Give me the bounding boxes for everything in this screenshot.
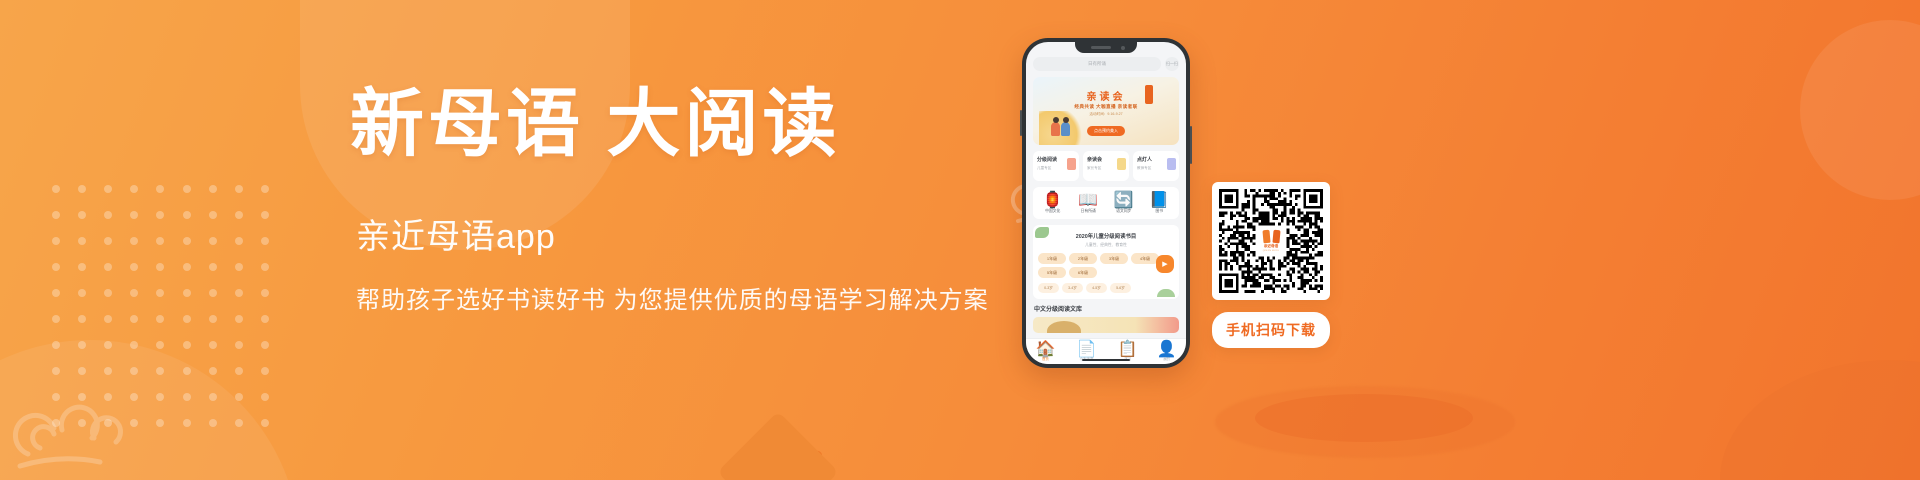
grade-chip[interactable]: 5年级 (1038, 267, 1066, 278)
copy-block: 新母语 大阅读 亲近母语app 帮助孩子选好书读好书 为您提供优质的母语学习解决… (350, 88, 1010, 316)
quick-icon-label: 语文同步 (1116, 209, 1131, 214)
age-chip[interactable]: 3-4岁 (1062, 283, 1083, 293)
hero-date: 活动时间：9.16-9.27 (1089, 112, 1122, 117)
grade-chip[interactable]: 4年级 (1131, 253, 1159, 264)
hero-title: 亲读会 (1087, 88, 1126, 103)
tab-label: 我的 (1163, 356, 1170, 361)
description-line: 帮助孩子选好书读好书 为您提供优质的母语学习解决方案 (356, 287, 1010, 316)
category-cards: 分级阅读儿童专区亲读会家长专区点灯人教师专区 (1033, 151, 1179, 181)
booklist-subtitle: 儿童性、经典性、教育性 (1038, 243, 1174, 248)
decor-diamond (717, 411, 839, 480)
category-card[interactable]: 分级阅读儿童专区 (1033, 151, 1079, 181)
age-chip[interactable]: 0-3岁 (1038, 283, 1059, 293)
age-chip-row: 0-3岁3-4岁4-5岁5-6岁 (1038, 283, 1174, 293)
quick-icon-glyph: 🏮 (1047, 194, 1058, 206)
quick-icon-row: 🏮中国文化📖日有所诵🔄语文同步📘图书 (1033, 187, 1179, 219)
tab-我的[interactable]: 👤我的 (1162, 345, 1171, 361)
decor-right-circle (1800, 20, 1920, 200)
subheadline: 亲近母语app (356, 220, 1010, 254)
tab-glyph: 📋 (1123, 345, 1132, 354)
tab-label: 首页 (1042, 356, 1049, 361)
quick-icon-glyph: 🔄 (1118, 194, 1129, 206)
grade-chip[interactable]: 3年级 (1100, 253, 1128, 264)
booklist-title: 2020年儿童分级阅读书目 (1038, 232, 1174, 240)
booklist-card[interactable]: 2020年儿童分级阅读书目 儿童性、经典性、教育性 1年级2年级3年级4年级5年… (1033, 225, 1179, 299)
headline: 新母语 大阅读 (350, 88, 1010, 162)
promo-banner: 新母语 大阅读 亲近母语app 帮助孩子选好书读好书 为您提供优质的母语学习解决… (0, 0, 1920, 480)
qr-logo-title: 亲近母语 (1264, 244, 1278, 249)
quick-icon-label: 中国文化 (1045, 209, 1060, 214)
quick-icon-glyph: 📖 (1083, 194, 1094, 206)
tab-glyph: 🏠 (1041, 345, 1050, 354)
hero-banner[interactable]: 亲读会 经典共读 大咖直播 亲读者联 活动时间：9.16-9.27 点击预约美入 (1033, 77, 1179, 145)
decor-diamond-shadow (762, 450, 822, 480)
grade-chip[interactable]: 6年级 (1069, 267, 1097, 278)
age-chip[interactable]: 4-5岁 (1086, 283, 1107, 293)
section-title: 中文分级阅读文库 (1034, 304, 1179, 313)
category-card[interactable]: 点灯人教师专区 (1133, 151, 1179, 181)
phone-notch (1075, 42, 1137, 53)
decor-phone-shadow-inner (1255, 394, 1473, 442)
hero-cta-button[interactable]: 点击预约美入 (1087, 126, 1125, 136)
quick-icon[interactable]: 🏮中国文化 (1041, 194, 1065, 214)
decor-phone-shadow-outer (1215, 386, 1515, 458)
category-card-icon (1167, 158, 1176, 170)
qr-card[interactable]: 亲近母语 QINJIN MUYU (1212, 182, 1330, 300)
play-video-button[interactable]: ▶ (1156, 255, 1174, 273)
hero-illustration (1039, 111, 1085, 145)
category-card[interactable]: 亲读会家长专区 (1083, 151, 1129, 181)
phone-screen: 日有所诵 扫一扫 亲读会 经典共读 大咖直播 亲读者联 活动时间：9.16-9.… (1026, 42, 1186, 364)
quick-icon[interactable]: 📖日有所诵 (1076, 194, 1100, 214)
category-card-icon (1117, 158, 1126, 170)
tab-首页[interactable]: 🏠首页 (1041, 345, 1050, 361)
app-content: 日有所诵 扫一扫 亲读会 经典共读 大咖直播 亲读者联 活动时间：9.16-9.… (1026, 42, 1186, 364)
hero-subtitle: 经典共读 大咖直播 亲读者联 (1074, 104, 1137, 110)
tab-glyph: 📄 (1082, 345, 1091, 354)
qr-block: 亲近母语 QINJIN MUYU 手机扫码下载 (1212, 182, 1330, 348)
home-indicator (1082, 359, 1130, 362)
grade-chip[interactable]: 2年级 (1069, 253, 1097, 264)
quick-icon-label: 图书 (1155, 209, 1163, 214)
app-search-row: 日有所诵 扫一扫 (1033, 57, 1179, 71)
library-banner[interactable] (1033, 317, 1179, 333)
hero-seal-icon (1145, 85, 1153, 104)
grade-chip[interactable]: 1年级 (1038, 253, 1066, 264)
decor-bottom-right-circle (1720, 360, 1920, 480)
quick-icon[interactable]: 📘图书 (1147, 194, 1171, 214)
quick-icon-glyph: 📘 (1154, 194, 1165, 206)
hero-child-b (1061, 122, 1070, 136)
quick-icon[interactable]: 🔄语文同步 (1112, 194, 1136, 214)
brand-mark-icon (1263, 230, 1280, 243)
qr-logo-sub: QINJIN MUYU (1263, 250, 1279, 252)
tab-glyph: 👤 (1162, 345, 1171, 354)
download-button[interactable]: 手机扫码下载 (1212, 312, 1330, 348)
scan-icon[interactable]: 扫一扫 (1165, 57, 1179, 71)
qr-center-logo: 亲近母语 QINJIN MUYU (1258, 228, 1284, 254)
grade-chip-row: 1年级2年级3年级4年级5年级6年级 (1038, 253, 1174, 278)
quick-icon-label: 日有所诵 (1081, 209, 1096, 214)
age-chip[interactable]: 5-6岁 (1110, 283, 1131, 293)
cloud-motif-icon (10, 378, 160, 470)
search-input[interactable]: 日有所诵 (1033, 57, 1161, 71)
phone-mockup: 日有所诵 扫一扫 亲读会 经典共读 大咖直播 亲读者联 活动时间：9.16-9.… (1022, 38, 1190, 368)
hero-child-a (1051, 122, 1060, 136)
category-card-icon (1067, 158, 1076, 170)
